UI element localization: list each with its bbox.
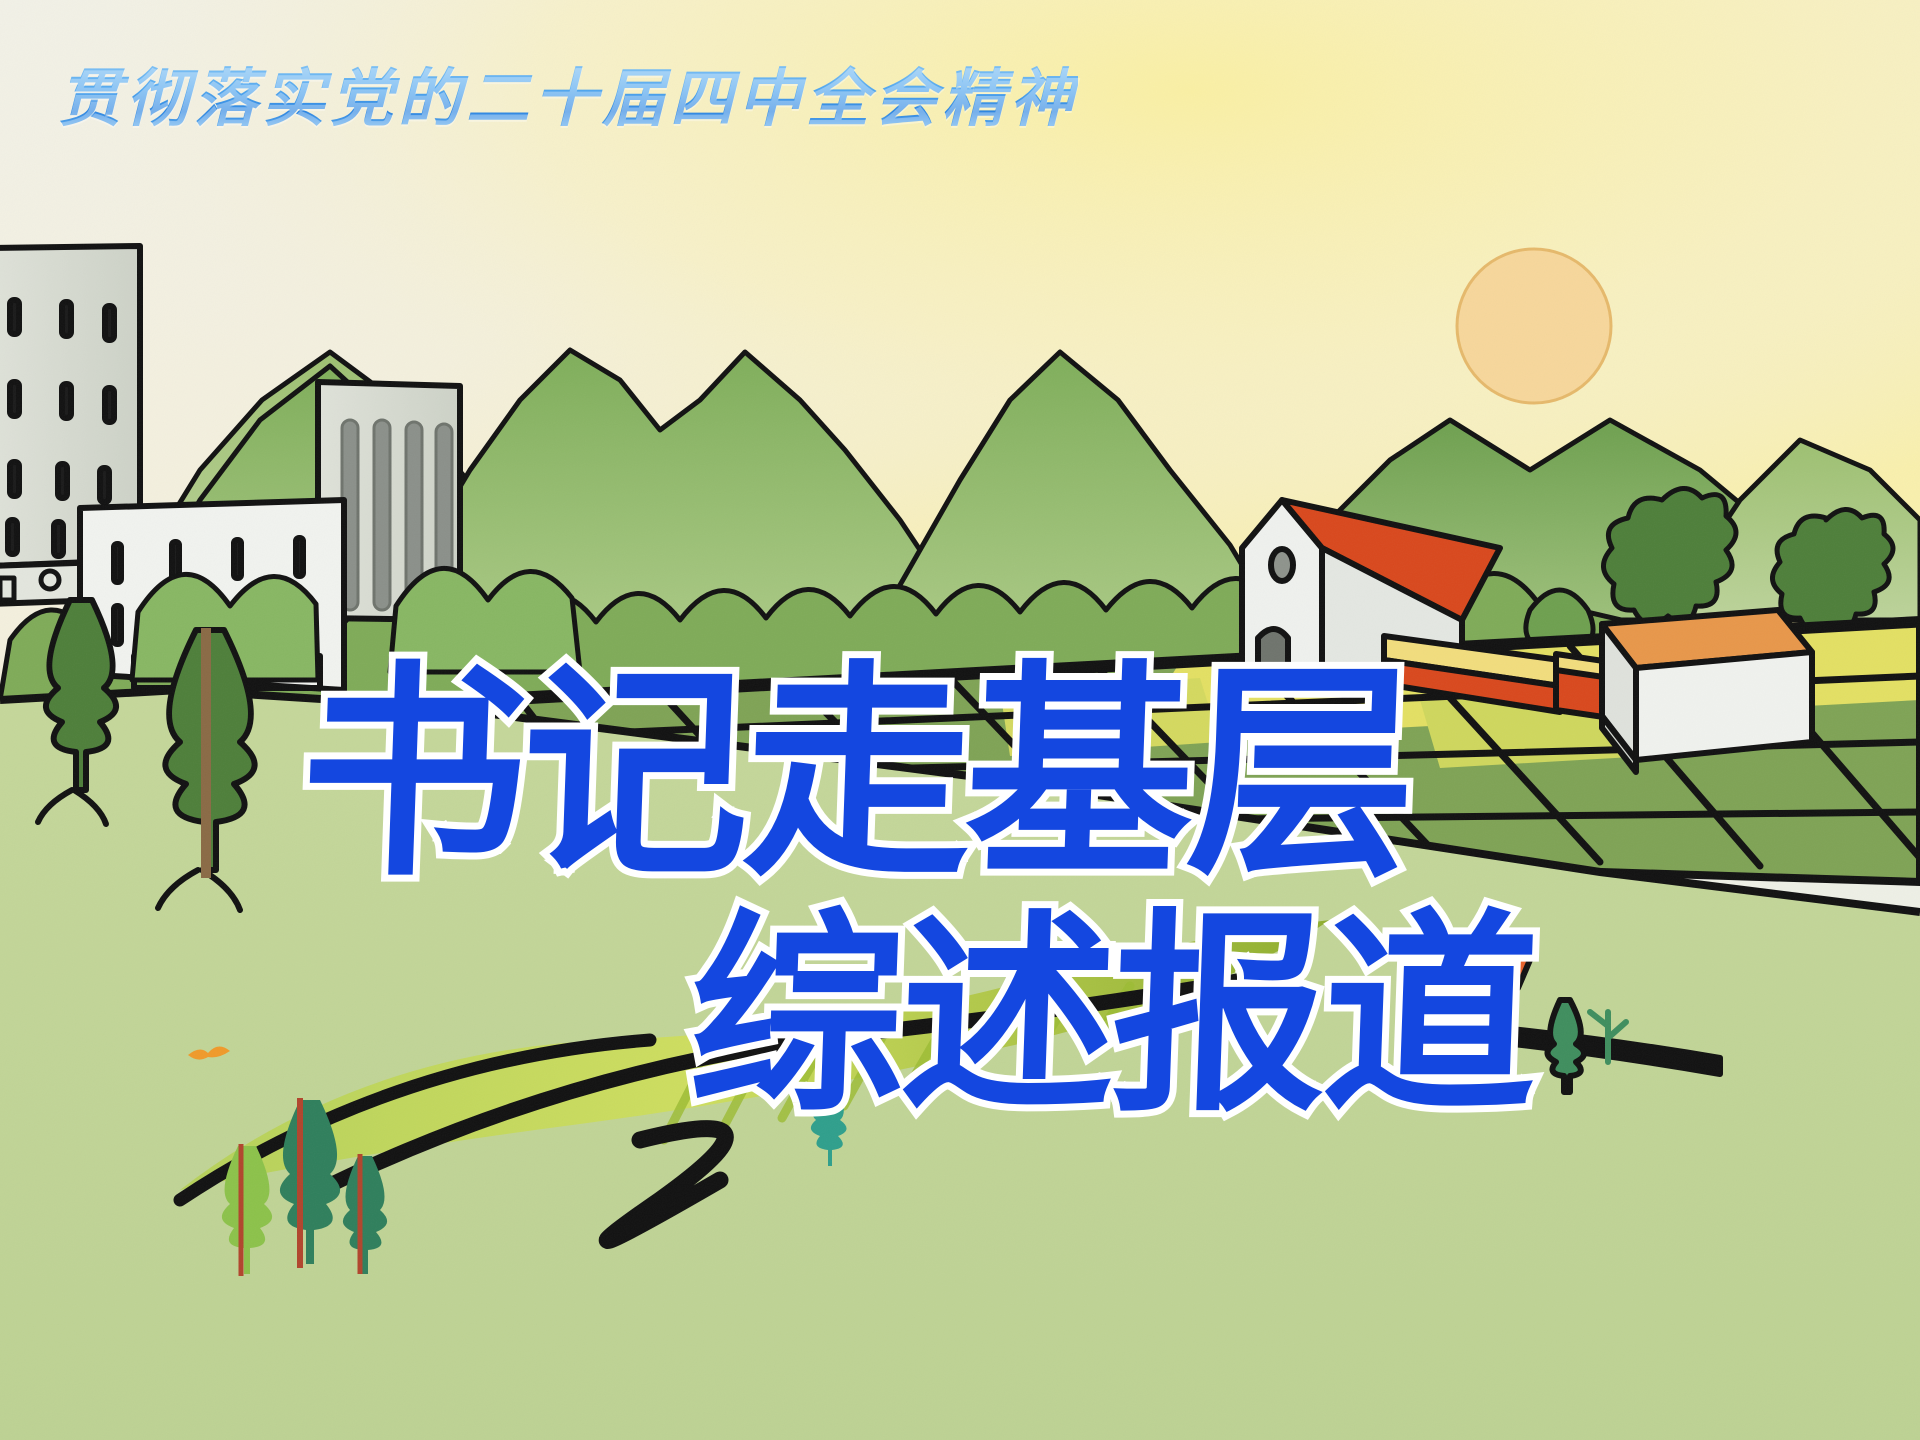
landscape-illustration — [0, 0, 1920, 1440]
top-slogan: 贯彻落实党的二十届四中全会精神 — [58, 48, 1078, 139]
poster-canvas: 贯彻落实党的二十届四中全会精神 书记走基层 综述报道 — [0, 0, 1920, 1440]
